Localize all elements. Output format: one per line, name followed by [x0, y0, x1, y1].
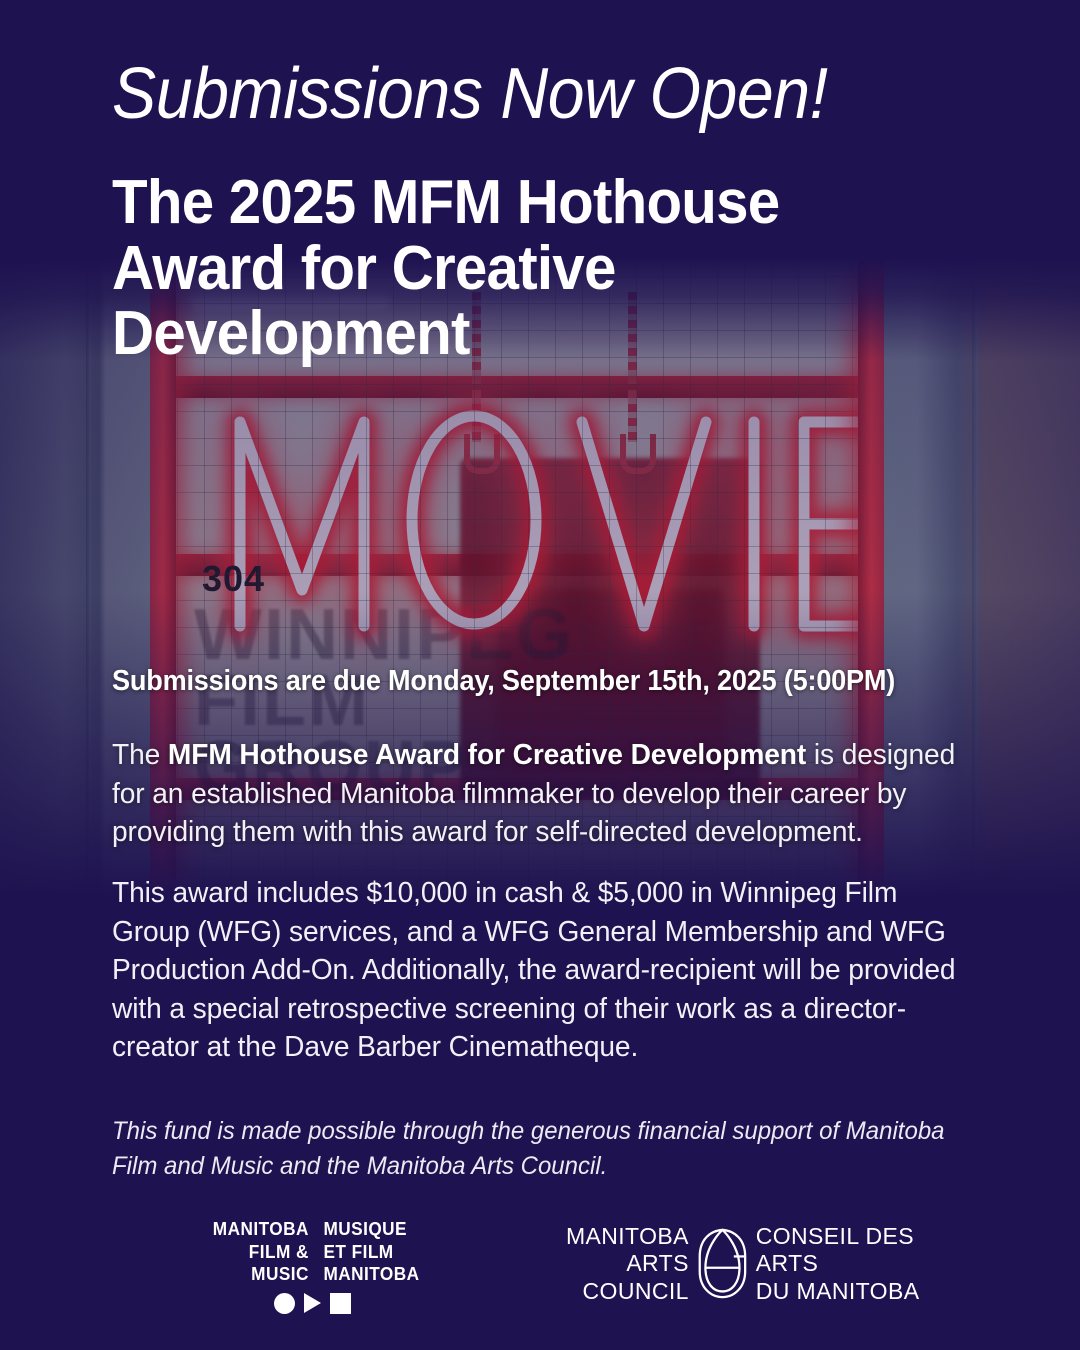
mfm-french-text: MUSIQUE ET FILM MANITOBA: [316, 1218, 420, 1286]
play-triangle-icon: [304, 1293, 321, 1313]
funding-note: This fund is made possible through the g…: [112, 1114, 957, 1184]
mac-english-text: MANITOBA ARTS COUNCIL: [545, 1223, 689, 1306]
headline-line-1: The 2025 MFM Hothouse: [112, 170, 986, 236]
page-title: The 2025 MFM Hothouse Award for Creative…: [112, 170, 986, 367]
mac-fr-line-2: DU MANITOBA: [756, 1278, 945, 1306]
tulip-mark-icon: [695, 1226, 750, 1302]
circle-icon: [274, 1293, 295, 1314]
mfm-shapes-mark: [205, 1293, 420, 1314]
mac-fr-line-1: CONSEIL DES ARTS: [756, 1223, 945, 1278]
mfm-english-text: MANITOBA FILM & MUSIC: [213, 1218, 317, 1286]
poster-content: Submissions Now Open! The 2025 MFM Hotho…: [0, 0, 1080, 1350]
para1-bold: MFM Hothouse Award for Creative Developm…: [168, 739, 806, 771]
description-paragraph-1: The MFM Hothouse Award for Creative Deve…: [112, 736, 975, 852]
description-paragraph-2: This award includes $10,000 in cash & $5…: [112, 874, 975, 1067]
manitoba-film-music-logo: MANITOBA FILM & MUSIC MUSIQUE ET FILM MA…: [205, 1218, 420, 1314]
mac-french-text: CONSEIL DES ARTS DU MANITOBA: [756, 1223, 945, 1306]
manitoba-arts-council-logo: MANITOBA ARTS COUNCIL CONSEIL DES AR: [545, 1224, 945, 1304]
deadline-text: Submissions are due Monday, September 15…: [112, 664, 967, 698]
kicker-text: Submissions Now Open!: [112, 58, 828, 130]
mac-en-line-1: MANITOBA: [545, 1223, 689, 1251]
mac-en-line-2: ARTS COUNCIL: [545, 1250, 689, 1305]
logo-row: MANITOBA FILM & MUSIC MUSIQUE ET FILM MA…: [0, 1218, 1080, 1308]
para1-lead: The: [112, 739, 168, 771]
mfm-fr-line-1: MUSIQUE: [324, 1218, 420, 1241]
mfm-en-line-3: MUSIC: [213, 1263, 309, 1286]
mfm-en-line-1: MANITOBA: [213, 1218, 309, 1241]
square-icon: [330, 1293, 351, 1314]
poster-root: WINNIPEG FILM GROUP: [0, 0, 1080, 1350]
mfm-fr-line-3: MANITOBA: [324, 1263, 420, 1286]
headline-line-2: Award for Creative Development: [112, 236, 986, 367]
mfm-fr-line-2: ET FILM: [324, 1241, 420, 1264]
mfm-en-line-2: FILM &: [213, 1241, 309, 1264]
